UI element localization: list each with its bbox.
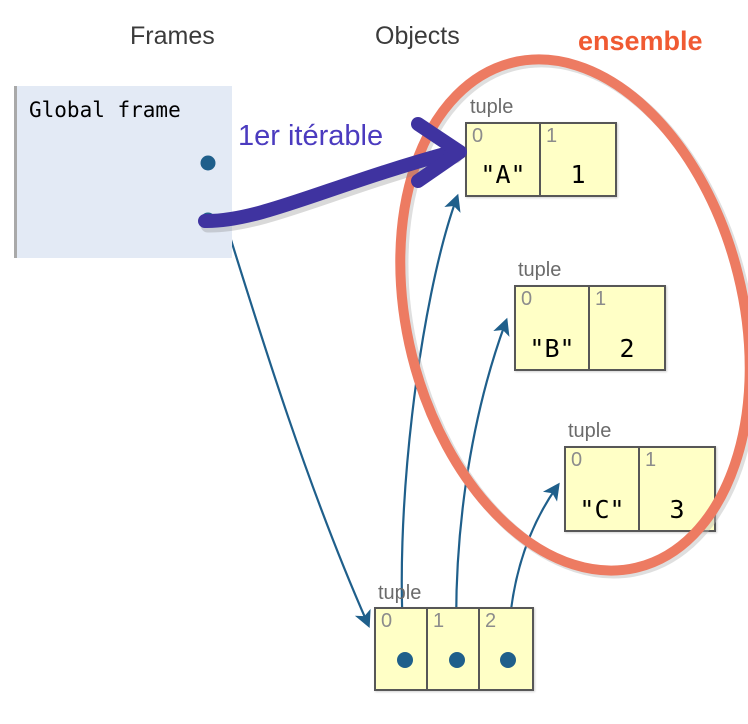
- tuple-b-object: 0 "B" 1 2: [514, 285, 666, 371]
- tuple-outer-type-label: tuple: [378, 582, 421, 605]
- tuple-b-index-1: 1: [595, 288, 606, 310]
- tuple-a-index-0: 0: [472, 125, 483, 147]
- tuple-a-cell-1: 1 1: [541, 124, 615, 195]
- tuple-outer-cell-1: 1: [428, 609, 480, 689]
- tuple-outer-cell-0: 0: [376, 609, 428, 689]
- tuple-outer-index-1: 1: [433, 610, 444, 632]
- iterable-annotation-label: 1er itérable: [238, 120, 383, 153]
- tuple-b-index-0: 0: [521, 288, 532, 310]
- tuple-a-index-1: 1: [546, 125, 557, 147]
- global-frame-panel: Global frame: [14, 86, 232, 258]
- tuple-outer-index-2: 2: [485, 610, 496, 632]
- tuple-b-cell-1: 1 2: [590, 287, 664, 369]
- tuple-c-value-1: 3: [669, 495, 684, 530]
- tuple-c-index-0: 0: [571, 449, 582, 471]
- python-tutor-visualization: Frames Objects ensemble Global frame T e…: [0, 0, 748, 724]
- tuple-c-index-1: 1: [645, 449, 656, 471]
- ensemble-annotation-label: ensemble: [578, 26, 703, 57]
- tuple-c-object: 0 "C" 1 3: [564, 446, 716, 532]
- tuple-a-value-1: 1: [570, 160, 585, 195]
- tuple-b-value-0: "B": [529, 334, 574, 369]
- tuple-a-value-0: "A": [480, 160, 525, 195]
- tuple-c-type-label: tuple: [568, 420, 611, 443]
- tuple-b-type-label: tuple: [518, 259, 561, 282]
- tuple-b-cell-0: 0 "B": [516, 287, 590, 369]
- tuple-outer-object: 0 1 2: [374, 607, 534, 691]
- tuple-outer-index-0: 0: [381, 610, 392, 632]
- frames-column-header: Frames: [130, 22, 215, 51]
- tuple-c-cell-1: 1 3: [640, 448, 714, 530]
- tuple-a-object: 0 "A" 1 1: [465, 122, 617, 197]
- tuple-b-value-1: 2: [619, 334, 634, 369]
- tuple-c-cell-0: 0 "C": [566, 448, 640, 530]
- tuple-c-value-0: "C": [579, 495, 624, 530]
- tuple-a-cell-0: 0 "A": [467, 124, 541, 195]
- global-frame-title: Global frame: [29, 98, 181, 122]
- tuple-outer-cell-2: 2: [480, 609, 532, 689]
- objects-column-header: Objects: [375, 22, 460, 51]
- tuple-a-type-label: tuple: [470, 96, 513, 119]
